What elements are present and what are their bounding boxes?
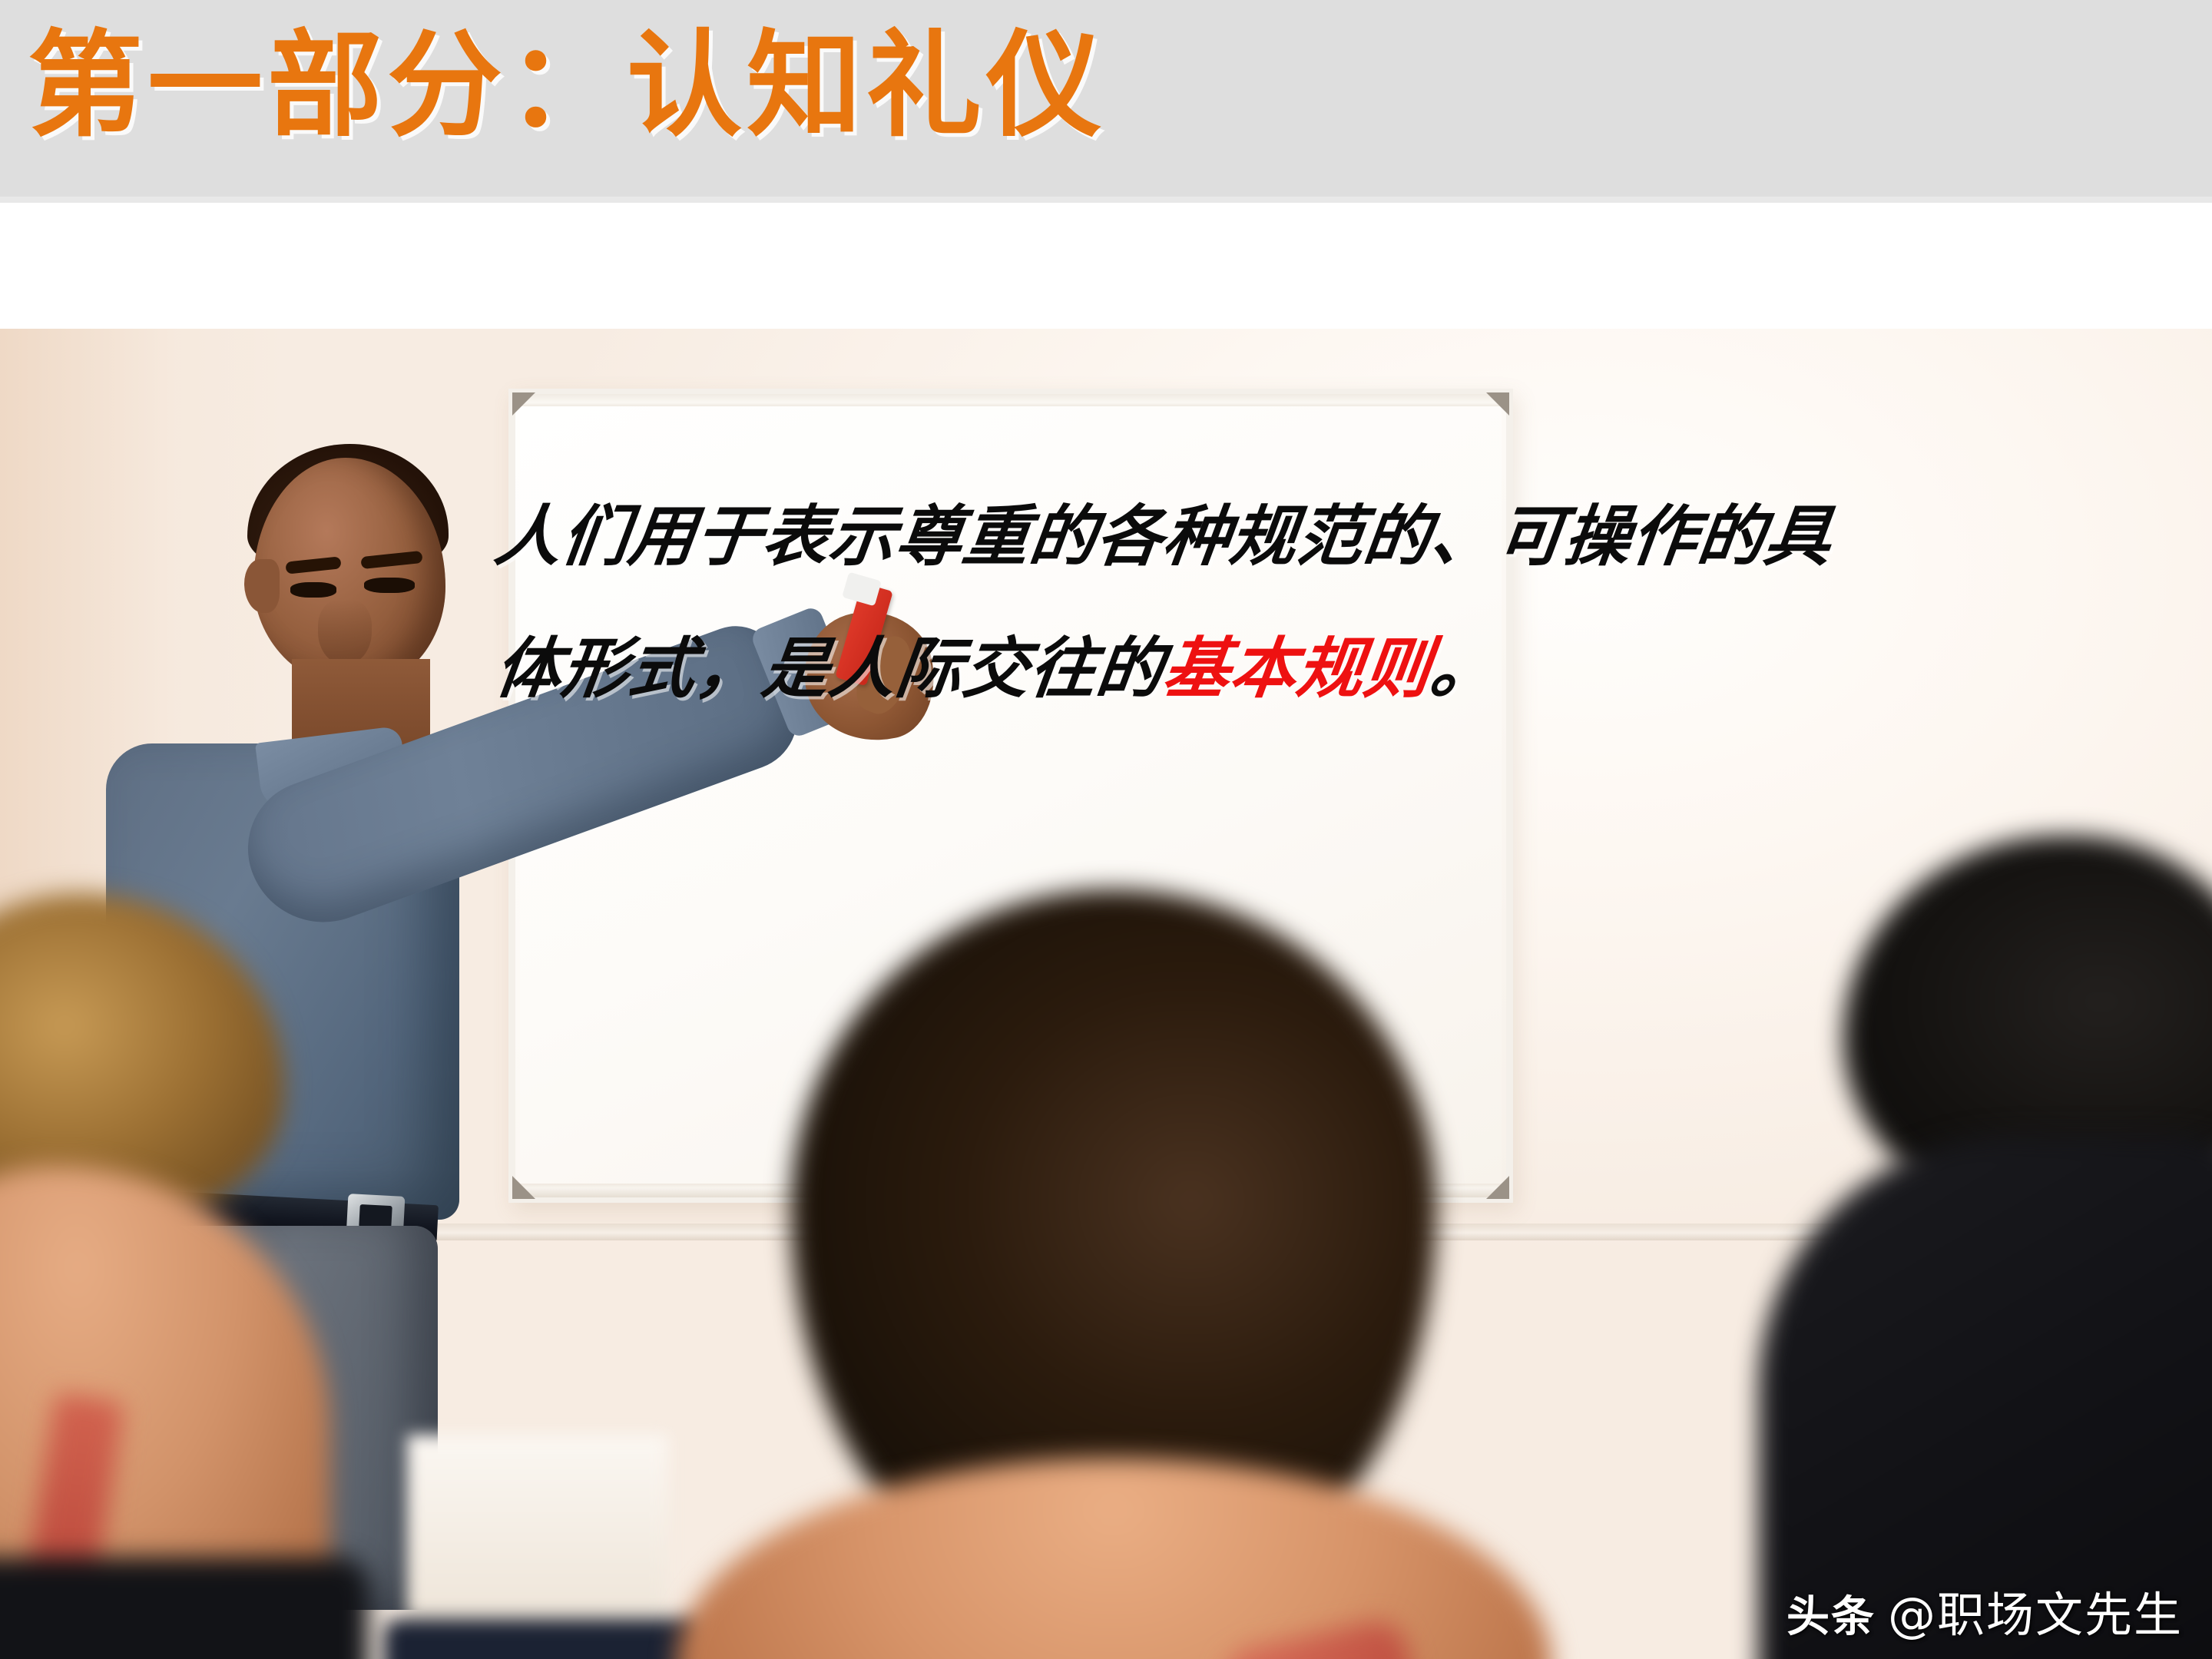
- watermark: 头条 @职场文先生: [1786, 1576, 2183, 1645]
- whiteboard-text-line-2-suffix: 。: [1426, 631, 1502, 707]
- presenter-nose: [318, 599, 372, 665]
- slide-canvas: 第一部分：认知礼仪: [0, 0, 2212, 1659]
- header-underline-divider: [0, 197, 2212, 203]
- audience-left-chair: [0, 1558, 369, 1659]
- watermark-brand: 头条: [1786, 1582, 1876, 1644]
- presenter-eye-left: [290, 582, 336, 598]
- background-desk-shadow: [384, 1619, 707, 1659]
- presenter-eye-right: [364, 578, 415, 593]
- whiteboard-text-line-1: 人们用于表示尊重的各种规范的、可操作的具: [487, 471, 1701, 603]
- whiteboard-text-line-2-prefix: 体形式，是人际交往的: [491, 631, 1168, 707]
- whiteboard-text-highlight: 基本规则: [1159, 631, 1435, 707]
- whiteboard-text-line-2: 体形式，是人际交往的基本规则。: [487, 603, 1701, 735]
- watermark-handle: @职场文先生: [1888, 1576, 2183, 1645]
- page-title: 第一部分：认知礼仪: [28, 17, 1106, 155]
- whiteboard-text-block: 人们用于表示尊重的各种规范的、可操作的具 体形式，是人际交往的基本规则。: [495, 471, 1694, 735]
- slide-photo: 人们用于表示尊重的各种规范的、可操作的具 体形式，是人际交往的基本规则。 头条 …: [0, 329, 2212, 1659]
- presenter-ear: [244, 559, 280, 613]
